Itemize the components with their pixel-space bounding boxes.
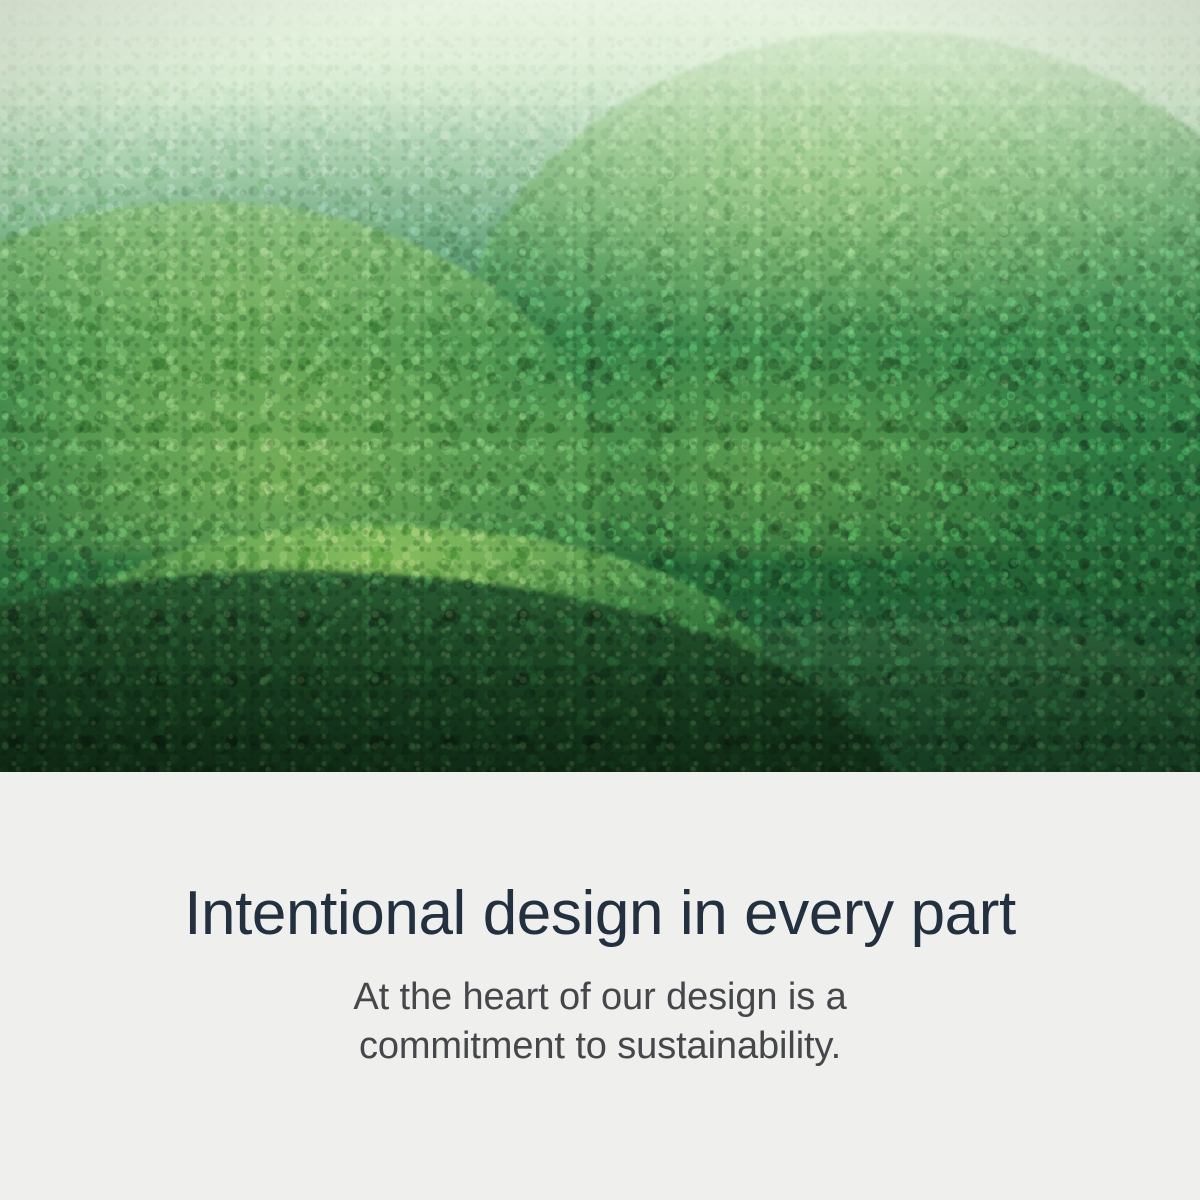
caption-block: Intentional design in every part At the … — [0, 772, 1200, 1200]
canopy-highlights — [0, 0, 1200, 772]
forest-hills-photo — [0, 0, 1200, 772]
hero-image — [0, 0, 1200, 772]
promo-card: Intentional design in every part At the … — [0, 0, 1200, 1200]
subheadline: At the heart of our design is a commitme… — [290, 973, 910, 1072]
headline: Intentional design in every part — [184, 883, 1016, 945]
